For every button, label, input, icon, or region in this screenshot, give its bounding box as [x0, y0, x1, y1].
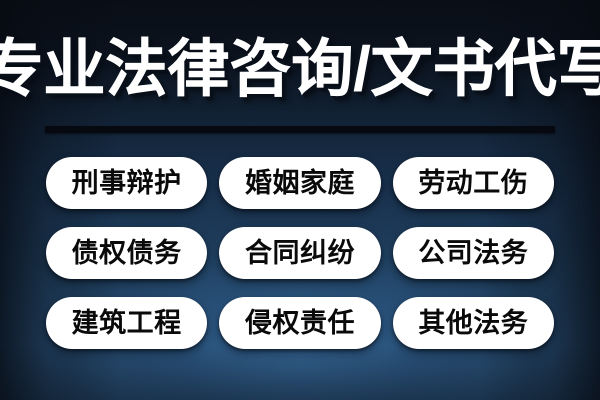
category-pill-label: 建筑工程 [72, 310, 182, 337]
category-pill-label: 其他法务 [418, 310, 528, 337]
category-pill-debt-claims[interactable]: 债权债务 [46, 227, 207, 279]
category-grid: 刑事辩护 婚姻家庭 劳动工伤 债权债务 合同纠纷 公司法务 [46, 157, 554, 349]
category-row: 建筑工程 侵权责任 其他法务 [46, 297, 554, 349]
category-pill-labor-injury[interactable]: 劳动工伤 [393, 157, 554, 209]
category-pill-label: 债权债务 [72, 240, 182, 267]
category-pill-other-legal[interactable]: 其他法务 [393, 297, 554, 349]
category-pill-label: 劳动工伤 [418, 170, 528, 197]
legal-services-banner: 专业法律咨询/文书代写 刑事辩护 婚姻家庭 劳动工伤 债权债务 合同 [0, 0, 600, 400]
category-pill-corporate-legal[interactable]: 公司法务 [393, 227, 554, 279]
category-pill-label: 婚姻家庭 [245, 170, 355, 197]
category-pill-label: 刑事辩护 [72, 170, 182, 197]
banner-content: 专业法律咨询/文书代写 刑事辩护 婚姻家庭 劳动工伤 债权债务 合同 [0, 0, 600, 400]
category-pill-criminal-defense[interactable]: 刑事辩护 [46, 157, 207, 209]
category-pill-contract-disputes[interactable]: 合同纠纷 [219, 227, 380, 279]
category-pill-marriage-family[interactable]: 婚姻家庭 [219, 157, 380, 209]
category-pill-label: 公司法务 [418, 240, 528, 267]
category-pill-tort-liability[interactable]: 侵权责任 [219, 297, 380, 349]
title-divider [45, 126, 555, 133]
category-row: 债权债务 合同纠纷 公司法务 [46, 227, 554, 279]
category-pill-construction-engineering[interactable]: 建筑工程 [46, 297, 207, 349]
banner-title: 专业法律咨询/文书代写 [0, 30, 600, 110]
category-row: 刑事辩护 婚姻家庭 劳动工伤 [46, 157, 554, 209]
category-pill-label: 侵权责任 [245, 310, 355, 337]
category-pill-label: 合同纠纷 [245, 240, 355, 267]
